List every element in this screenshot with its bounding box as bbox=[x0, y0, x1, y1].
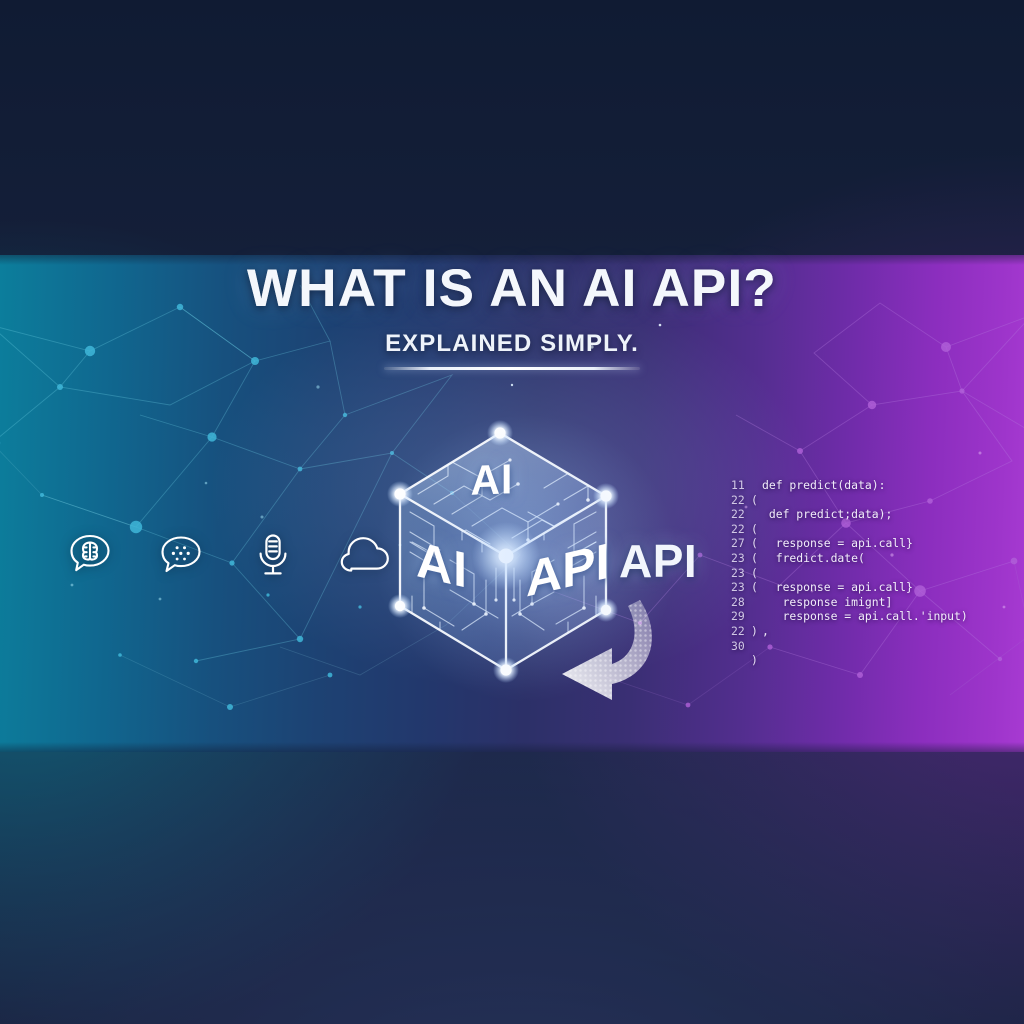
code-line-number: 30 bbox=[731, 639, 751, 654]
code-line-number: 22 bbox=[731, 624, 751, 639]
brain-chat-bubble-icon bbox=[62, 527, 118, 583]
code-line: 22( bbox=[731, 522, 968, 537]
code-line-bracket: ( bbox=[751, 551, 762, 566]
code-line-number: 22 bbox=[731, 493, 751, 508]
code-snippet: 11def predict(data):22(22 def predict;da… bbox=[731, 478, 968, 668]
code-line: 29 response = api.call.'input) bbox=[731, 609, 968, 624]
feature-icon-row bbox=[62, 523, 392, 587]
code-line: 27( response = api.call} bbox=[731, 536, 968, 551]
code-line: 22( bbox=[731, 493, 968, 508]
code-line-text: , bbox=[762, 624, 769, 638]
code-line-number: 27 bbox=[731, 536, 751, 551]
code-line-bracket: ) bbox=[751, 653, 762, 668]
code-line-bracket: ( bbox=[751, 566, 762, 581]
code-line-text: response = api.call} bbox=[762, 536, 913, 550]
code-line: 23( response = api.call} bbox=[731, 580, 968, 595]
api-side-word: API bbox=[619, 534, 697, 588]
band-top-fade bbox=[0, 255, 1024, 265]
code-line-number: 28 bbox=[731, 595, 751, 610]
code-line-bracket: ( bbox=[751, 536, 762, 551]
code-line: 30 bbox=[731, 639, 968, 654]
code-line-text: response = api.call} bbox=[762, 580, 913, 594]
code-line: 23( fredict.date( bbox=[731, 551, 968, 566]
code-line: 22 def predict;data); bbox=[731, 507, 968, 522]
code-line-number: 22 bbox=[731, 507, 751, 522]
code-line-text: def predict;data); bbox=[762, 507, 892, 521]
code-line-number: 29 bbox=[731, 609, 751, 624]
code-line-bracket: ( bbox=[751, 522, 762, 537]
code-line: 11def predict(data): bbox=[731, 478, 968, 493]
code-line-bracket: ( bbox=[751, 493, 762, 508]
code-line: ) bbox=[731, 653, 968, 668]
code-line-text: fredict.date( bbox=[762, 551, 865, 565]
code-line-number: 23 bbox=[731, 580, 751, 595]
code-line-bracket: ( bbox=[751, 580, 762, 595]
microphone-icon bbox=[245, 527, 301, 583]
code-line-text: def predict(data): bbox=[762, 478, 885, 492]
code-line-number: 22 bbox=[731, 522, 751, 537]
band-bottom-fade bbox=[0, 742, 1024, 752]
code-line-bracket: ) bbox=[751, 624, 762, 639]
code-line-number: 11 bbox=[731, 478, 751, 493]
banner-image: WHAT IS AN AI API? EXPLAINED SIMPLY. bbox=[0, 0, 1024, 1024]
code-line-number: 23 bbox=[731, 566, 751, 581]
code-line: 23( bbox=[731, 566, 968, 581]
code-line-number: 23 bbox=[731, 551, 751, 566]
code-line: 28 response imignt] bbox=[731, 595, 968, 610]
code-line-text: response = api.call.'input) bbox=[762, 609, 968, 623]
chat-bubble-dots-icon bbox=[153, 527, 209, 583]
code-line-text: response imignt] bbox=[762, 595, 892, 609]
code-line: 22), bbox=[731, 624, 968, 639]
